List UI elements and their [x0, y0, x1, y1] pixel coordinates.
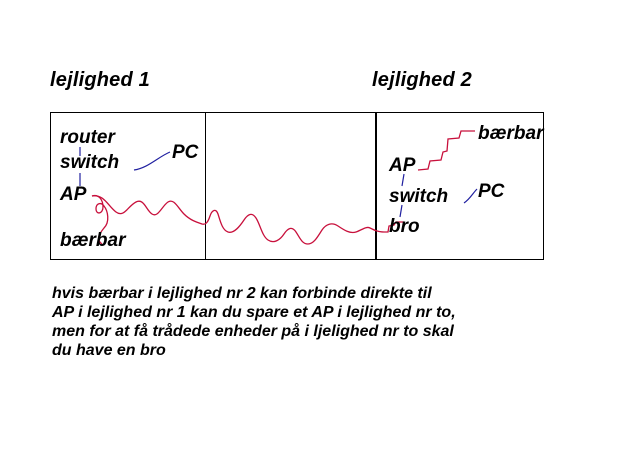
device-label-router-apartment-1: router	[60, 128, 115, 147]
device-label-switch-apartment-1: switch	[60, 153, 119, 172]
apartment-1-title: lejlighed 1	[50, 69, 150, 92]
device-label-bro-apartment-2: bro	[389, 217, 420, 236]
diagram-caption: hvis bærbar i lejlighed nr 2 kan forbind…	[52, 284, 592, 360]
caption-line-4: du have en bro	[52, 341, 592, 360]
shared-space-box	[205, 112, 376, 260]
device-label-ap-apartment-1: AP	[60, 185, 86, 204]
apartment-2-title: lejlighed 2	[372, 69, 472, 92]
device-label-baerbar-apartment-2: bærbar	[478, 124, 543, 143]
caption-line-3: men for at få trådede enheder på i ljeli…	[52, 322, 592, 341]
device-label-pc-apartment-1: PC	[172, 143, 198, 162]
caption-line-1: hvis bærbar i lejlighed nr 2 kan forbind…	[52, 284, 592, 303]
device-label-baerbar-apartment-1: bærbar	[60, 231, 125, 250]
device-label-pc-apartment-2: PC	[478, 182, 504, 201]
device-label-switch-apartment-2: switch	[389, 187, 448, 206]
caption-line-2: AP i lejlighed nr 1 kan du spare et AP i…	[52, 303, 592, 322]
diagram-canvas: lejlighed 1 lejlighed 2 router switch AP…	[0, 0, 640, 452]
device-label-ap-apartment-2: AP	[389, 156, 415, 175]
